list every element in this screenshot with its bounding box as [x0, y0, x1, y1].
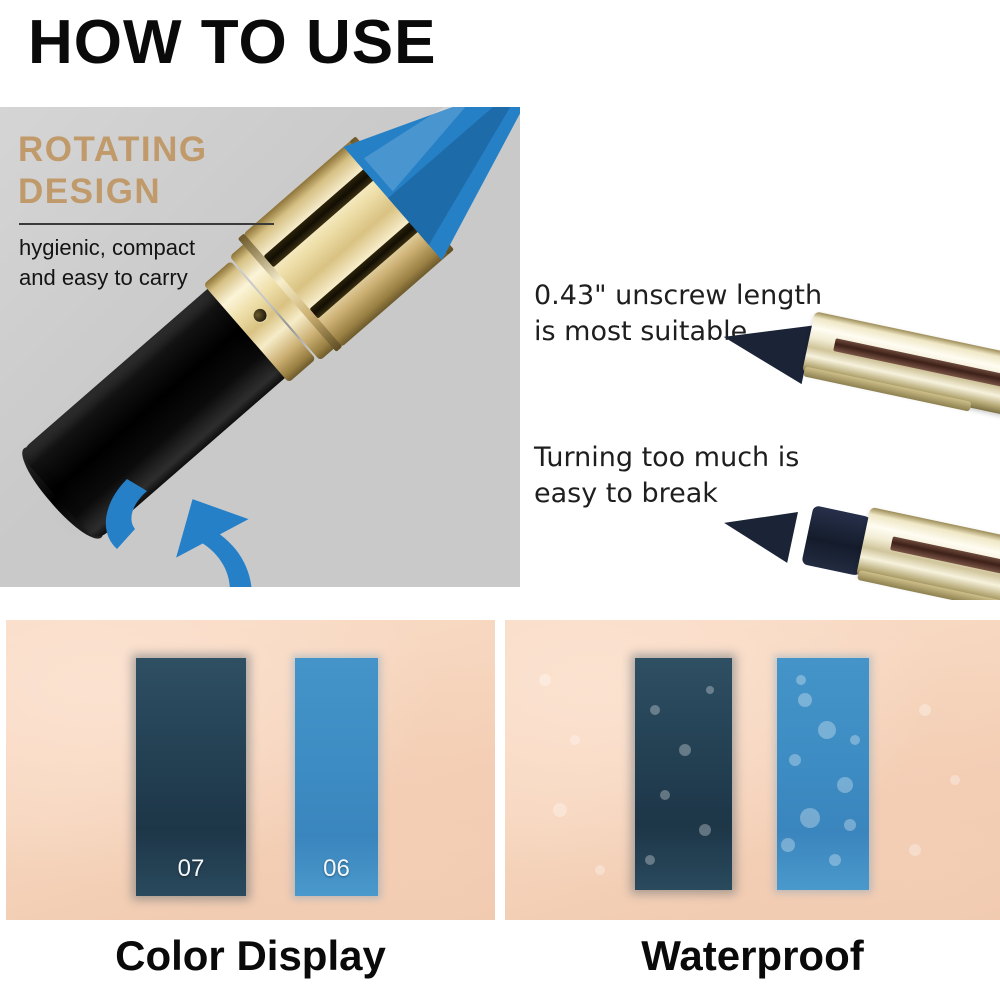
feature-title-line-2: DESIGN: [18, 171, 208, 213]
feature-title-line-1: ROTATING: [18, 129, 208, 171]
feature-subtitle-line-2: and easy to carry: [19, 263, 195, 293]
photo-pencil-broken: [711, 468, 1000, 600]
photo-pencil-tip-intact: [717, 308, 814, 385]
skin-background-right: [505, 620, 1000, 920]
rotation-arrows-icon: [95, 437, 325, 587]
swatch-label-06-left: 06: [295, 856, 378, 882]
skin-background-left: [6, 620, 495, 920]
usage-notes-panel: 0.43" unscrew length is most suitable Tu…: [520, 250, 1000, 600]
swatch-label-07-left: 07: [136, 856, 246, 882]
page-title: HOW TO USE: [28, 6, 436, 80]
waterproof-photo: [505, 620, 1000, 920]
caption-color-display: Color Display: [6, 925, 495, 987]
swatch-shade-07-left: 07: [136, 658, 246, 896]
swatch-shade-07-right: [635, 658, 732, 890]
swatch-shade-06-right: [777, 658, 869, 890]
infographic-root: HOW TO USE ROTATING DESIGN hygienic, com…: [0, 0, 1000, 1000]
note-2-line-1: Turning too much is: [534, 440, 799, 476]
feature-subtitle: hygienic, compact and easy to carry: [19, 233, 195, 293]
title-divider: [19, 223, 274, 225]
swatch-shade-06-left: 06: [295, 658, 378, 896]
caption-waterproof: Waterproof: [505, 925, 1000, 987]
photo-pencil-intact: [711, 280, 1000, 460]
feature-subtitle-line-1: hygienic, compact: [19, 233, 195, 263]
photo-pencil-broken-fragment: [719, 497, 798, 562]
color-display-photo: 07 06: [6, 620, 495, 920]
rotating-design-panel: ROTATING DESIGN hygienic, compact and ea…: [0, 107, 520, 587]
feature-title: ROTATING DESIGN: [18, 129, 208, 213]
